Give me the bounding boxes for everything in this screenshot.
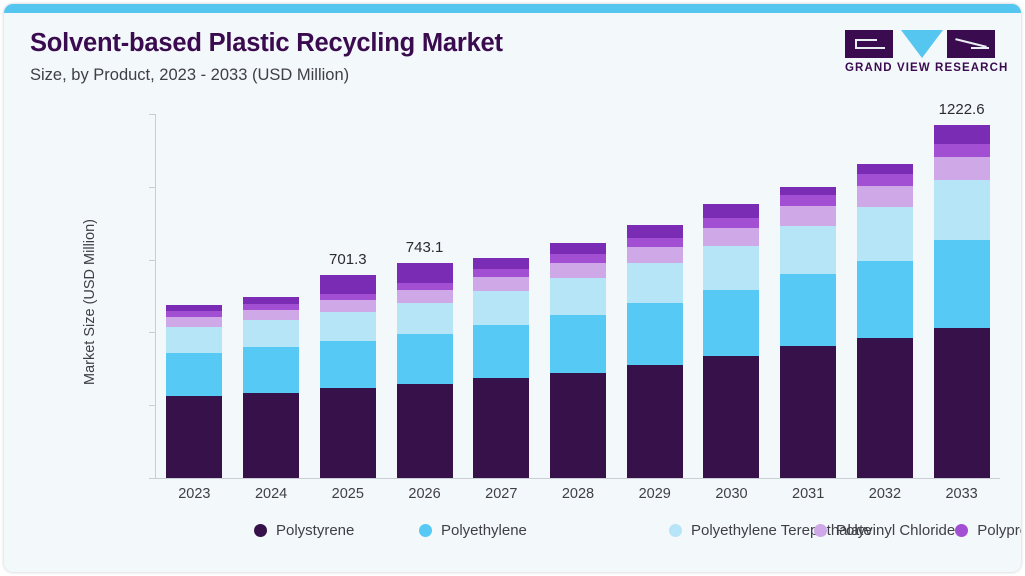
legend-label: Polyethylene: [441, 522, 527, 539]
bar-segment[interactable]: [550, 278, 606, 315]
legend-item[interactable]: Polypropylene: [955, 522, 1021, 539]
bar-value-label: 743.1: [406, 239, 444, 256]
legend-color-swatch-icon: [669, 524, 682, 537]
bar-stack[interactable]: [857, 164, 913, 478]
bar-segment[interactable]: [320, 341, 376, 388]
bar-segment[interactable]: [320, 300, 376, 312]
bar-segment[interactable]: [934, 125, 990, 144]
y-axis-tick-mark: [149, 260, 155, 261]
x-axis-tick-label: 2029: [639, 486, 671, 502]
legend-label: Polypropylene: [977, 522, 1021, 539]
bar-segment[interactable]: [473, 269, 529, 277]
bar-segment[interactable]: [934, 240, 990, 328]
bar-segment[interactable]: [320, 388, 376, 478]
legend-label: Polystyrene: [276, 522, 354, 539]
bar-segment[interactable]: [166, 311, 222, 317]
bar-segment[interactable]: [243, 393, 299, 479]
x-axis-tick-label: 2023: [178, 486, 210, 502]
bar-segment[interactable]: [320, 275, 376, 293]
bar-segment[interactable]: [166, 353, 222, 396]
bar-segment[interactable]: [397, 303, 453, 334]
bar-segment[interactable]: [627, 365, 683, 478]
y-axis-tick-mark: [149, 114, 155, 115]
bar-segment[interactable]: [703, 290, 759, 356]
y-axis-tick-mark: [149, 187, 155, 188]
bar-segment[interactable]: [166, 305, 222, 311]
bar-segment[interactable]: [397, 263, 453, 283]
bar-segment[interactable]: [473, 277, 529, 291]
bar-segment[interactable]: [934, 144, 990, 157]
logo-triangle-icon: [901, 30, 943, 58]
logo-rect-left-icon: [845, 30, 893, 58]
bar-segment[interactable]: [627, 238, 683, 247]
bar-segment[interactable]: [243, 320, 299, 347]
bar-stack[interactable]: 1222.6: [934, 125, 990, 478]
bar-segment[interactable]: [320, 294, 376, 301]
legend-item[interactable]: Polyethylene Terephthalate: [669, 522, 814, 539]
chart-card: Solvent-based Plastic Recycling Market S…: [4, 4, 1021, 572]
bar-segment[interactable]: [166, 317, 222, 327]
bar-segment[interactable]: [243, 310, 299, 321]
bar-segment[interactable]: [627, 247, 683, 263]
y-axis-tick-mark: [149, 405, 155, 406]
bar-segment[interactable]: [857, 207, 913, 261]
brand-logo: GRAND VIEW RESEARCH: [845, 30, 1001, 78]
legend-color-swatch-icon: [254, 524, 267, 537]
bar-segment[interactable]: [857, 164, 913, 174]
y-axis-label: Market Size (USD Million): [82, 92, 98, 512]
bar-segment[interactable]: [473, 325, 529, 379]
bar-segment[interactable]: [780, 206, 836, 225]
bar-segment[interactable]: [243, 304, 299, 310]
bar-segment[interactable]: [703, 218, 759, 228]
bar-segment[interactable]: [934, 328, 990, 478]
y-axis-label-wrap: Market Size (USD Million): [66, 114, 86, 478]
x-axis-tick-label: 2027: [485, 486, 517, 502]
bar-stack[interactable]: [780, 187, 836, 478]
screenshot-root: Solvent-based Plastic Recycling Market S…: [0, 0, 1025, 576]
bar-segment[interactable]: [397, 290, 453, 303]
bar-segment[interactable]: [703, 246, 759, 289]
legend-color-swatch-icon: [419, 524, 432, 537]
legend-label: Polyvinyl Chloride: [836, 522, 955, 539]
bar-segment[interactable]: [627, 225, 683, 238]
bar-segment[interactable]: [627, 303, 683, 365]
top-accent-bar: [4, 4, 1021, 13]
bar-segment[interactable]: [550, 373, 606, 478]
bar-segment[interactable]: [703, 356, 759, 478]
bar-segment[interactable]: [473, 378, 529, 478]
bar-segment[interactable]: [397, 334, 453, 384]
bar-segment[interactable]: [166, 327, 222, 353]
bar-segment[interactable]: [550, 263, 606, 278]
bar-segment[interactable]: [473, 291, 529, 325]
bar-segment[interactable]: [857, 174, 913, 186]
bar-stack[interactable]: [627, 225, 683, 478]
bar-segment[interactable]: [397, 384, 453, 478]
bar-segment[interactable]: [780, 226, 836, 274]
bar-segment[interactable]: [857, 186, 913, 207]
legend-item[interactable]: Polyvinyl Chloride: [814, 522, 955, 539]
bar-segment[interactable]: [243, 297, 299, 304]
y-axis-tick-mark: [149, 332, 155, 333]
bar-segment[interactable]: [780, 274, 836, 347]
legend-item[interactable]: Polyethylene: [419, 522, 669, 539]
bar-segment[interactable]: [550, 243, 606, 255]
bar-segment[interactable]: [166, 396, 222, 478]
x-axis-tick-label: 2030: [715, 486, 747, 502]
page-subtitle: Size, by Product, 2023 - 2033 (USD Milli…: [30, 66, 349, 85]
bar-segment[interactable]: [780, 346, 836, 478]
bar-segment[interactable]: [934, 157, 990, 180]
bar-value-label: 701.3: [329, 251, 367, 268]
plot-area: 701.3743.11222.6: [156, 114, 1000, 478]
x-axis-tick-label: 2032: [869, 486, 901, 502]
bar-segment[interactable]: [243, 347, 299, 392]
bar-segment[interactable]: [550, 315, 606, 372]
x-axis-line: [155, 478, 1000, 479]
legend-color-swatch-icon: [814, 524, 827, 537]
bar-segment[interactable]: [397, 283, 453, 290]
bar-segment[interactable]: [703, 204, 759, 218]
bar-stack[interactable]: [166, 305, 222, 478]
bar-stack[interactable]: [703, 204, 759, 478]
bar-stack[interactable]: [550, 243, 606, 478]
chart-legend: PolystyrenePolyethylenePolyethylene Tere…: [254, 518, 814, 543]
page-title: Solvent-based Plastic Recycling Market: [30, 29, 503, 58]
bar-segment[interactable]: [703, 228, 759, 246]
bar-segment[interactable]: [473, 258, 529, 268]
bar-segment[interactable]: [934, 180, 990, 240]
x-axis-tick-label: 2025: [332, 486, 364, 502]
bar-segment[interactable]: [857, 261, 913, 338]
bar-segment[interactable]: [320, 312, 376, 341]
bar-value-label: 1222.6: [939, 101, 985, 118]
x-axis-tick-label: 2028: [562, 486, 594, 502]
bar-segment[interactable]: [780, 195, 836, 206]
bar-stack[interactable]: [473, 258, 529, 478]
logo-rect-right-icon: [947, 30, 995, 58]
legend-item[interactable]: Polystyrene: [254, 522, 419, 539]
logo-marks: [845, 30, 1001, 58]
legend-color-swatch-icon: [955, 524, 968, 537]
x-axis-tick-label: 2031: [792, 486, 824, 502]
bar-segment[interactable]: [550, 254, 606, 263]
logo-text: GRAND VIEW RESEARCH: [845, 62, 1001, 74]
x-axis-tick-label: 2024: [255, 486, 287, 502]
bar-stack[interactable]: [243, 297, 299, 478]
x-axis-tick-label: 2026: [408, 486, 440, 502]
bar-segment[interactable]: [780, 187, 836, 195]
y-axis-tick-mark: [149, 478, 155, 479]
x-axis-tick-label: 2033: [945, 486, 977, 502]
bar-stack[interactable]: 743.1: [397, 263, 453, 478]
bar-segment[interactable]: [627, 263, 683, 303]
bar-segment[interactable]: [857, 338, 913, 478]
bar-stack[interactable]: 701.3: [320, 275, 376, 478]
